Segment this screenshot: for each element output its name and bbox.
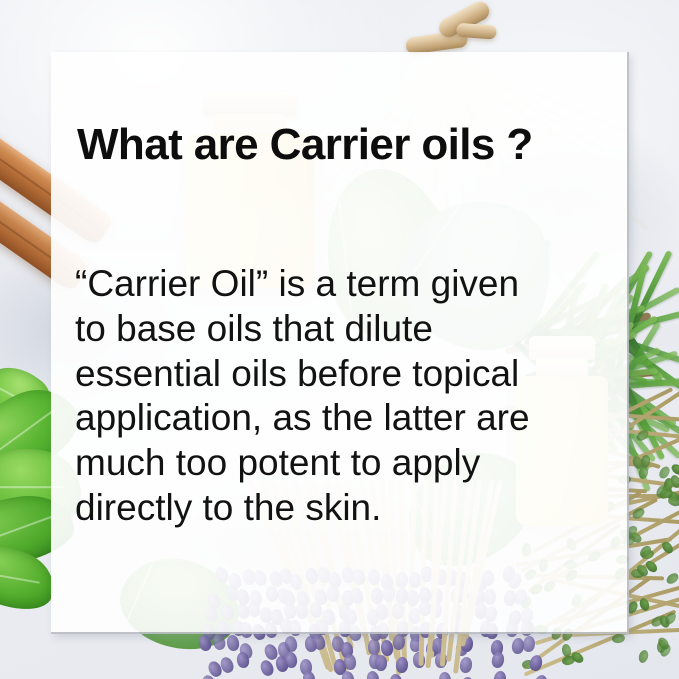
lavender-bud [460,675,475,679]
lavender-bud [375,655,387,671]
lavender-bud [493,671,507,679]
lavender-bud [225,634,240,652]
thyme-leaf [665,571,679,586]
body-line: much too potent to apply [75,441,615,486]
body-paragraph: “Carrier Oil” is a term given to base oi… [75,262,615,531]
lavender-bud [395,657,408,674]
thyme-leaf [667,496,679,508]
body-line: directly to the skin. [75,486,615,531]
infographic-image: What are Carrier oils ? “Carrier Oil” is… [0,0,679,679]
lavender-bud [258,659,275,678]
lavender-bud [284,635,299,653]
thyme-leaf [612,633,626,644]
lavender-bud [459,656,473,674]
body-line: essential oils before topical [75,352,615,397]
body-line: “Carrier Oil” is a term given [75,262,615,307]
thyme-leaf [637,649,649,664]
body-line: application, as the latter are [75,396,615,441]
lavender-bud [365,670,380,679]
page-title: What are Carrier oils ? [77,120,637,170]
text-layer: What are Carrier oils ? “Carrier Oil” is… [51,52,629,634]
body-line: to base oils that dilute [75,307,615,352]
lavender-bud [522,636,536,653]
lavender-bud [438,671,451,679]
